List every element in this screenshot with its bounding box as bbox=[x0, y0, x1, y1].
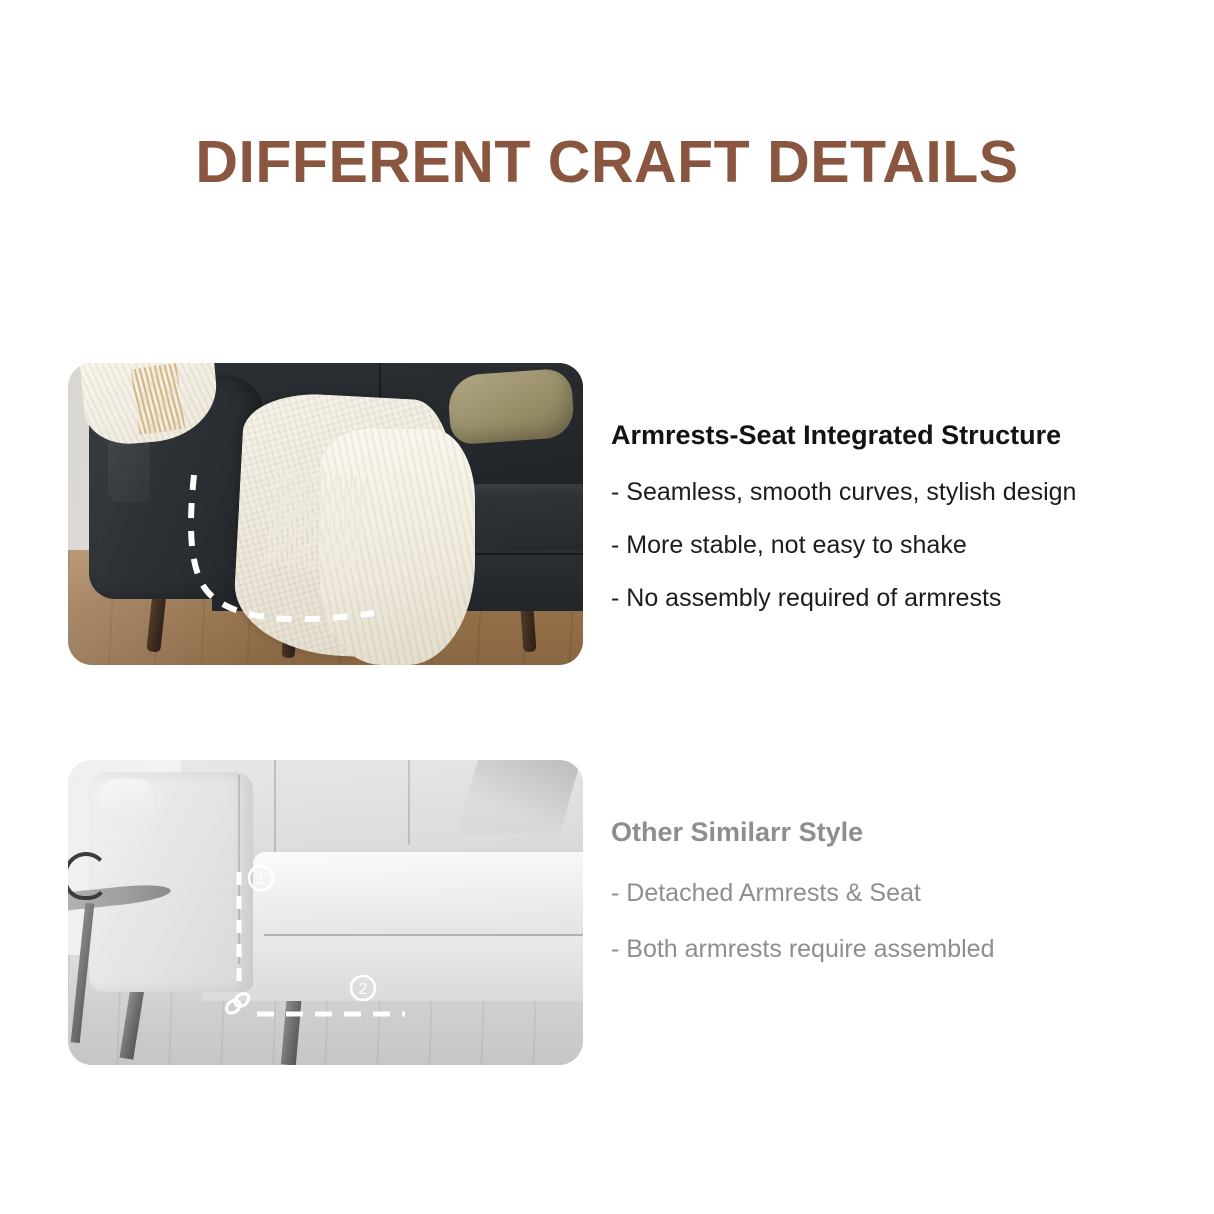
bullet-item: - Both armrests require assembled bbox=[611, 934, 1186, 964]
section-other-similar-style: 1 2 Other Similarr Style - Detached Armr… bbox=[0, 760, 1214, 1065]
junction-link-icon bbox=[224, 991, 251, 1016]
photo-card-integrated-structure bbox=[68, 363, 583, 665]
bullet-item: - Detached Armrests & Seat bbox=[611, 878, 1186, 908]
bullet-item: - No assembly required of armrests bbox=[611, 583, 1186, 613]
dashed-seam-annotation-icon: 1 2 bbox=[68, 760, 583, 1065]
page-title: DIFFERENT CRAFT DETAILS bbox=[0, 132, 1214, 194]
svg-text:1: 1 bbox=[257, 871, 266, 888]
section-integrated-structure: Armrests-Seat Integrated Structure - Sea… bbox=[0, 363, 1214, 665]
section-heading: Armrests-Seat Integrated Structure bbox=[611, 419, 1186, 451]
photo-dark-sofa bbox=[68, 363, 583, 665]
bullet-list: - Detached Armrests & Seat - Both armres… bbox=[611, 878, 1186, 964]
infographic-page: DIFFERENT CRAFT DETAILS bbox=[0, 0, 1214, 1214]
text-column-integrated-structure: Armrests-Seat Integrated Structure - Sea… bbox=[611, 419, 1186, 613]
marker-1-icon: 1 bbox=[249, 866, 273, 890]
dashed-curve-annotation-icon bbox=[68, 363, 583, 665]
bullet-list: - Seamless, smooth curves, stylish desig… bbox=[611, 477, 1186, 613]
svg-text:2: 2 bbox=[359, 981, 368, 998]
section-heading: Other Similarr Style bbox=[611, 816, 1186, 848]
bullet-item: - More stable, not easy to shake bbox=[611, 530, 1186, 560]
marker-2-icon: 2 bbox=[351, 976, 375, 1000]
text-column-other-similar-style: Other Similarr Style - Detached Armrests… bbox=[611, 816, 1186, 964]
photo-card-other-similar-style: 1 2 bbox=[68, 760, 583, 1065]
photo-light-sofa: 1 2 bbox=[68, 760, 583, 1065]
bullet-item: - Seamless, smooth curves, stylish desig… bbox=[611, 477, 1186, 507]
